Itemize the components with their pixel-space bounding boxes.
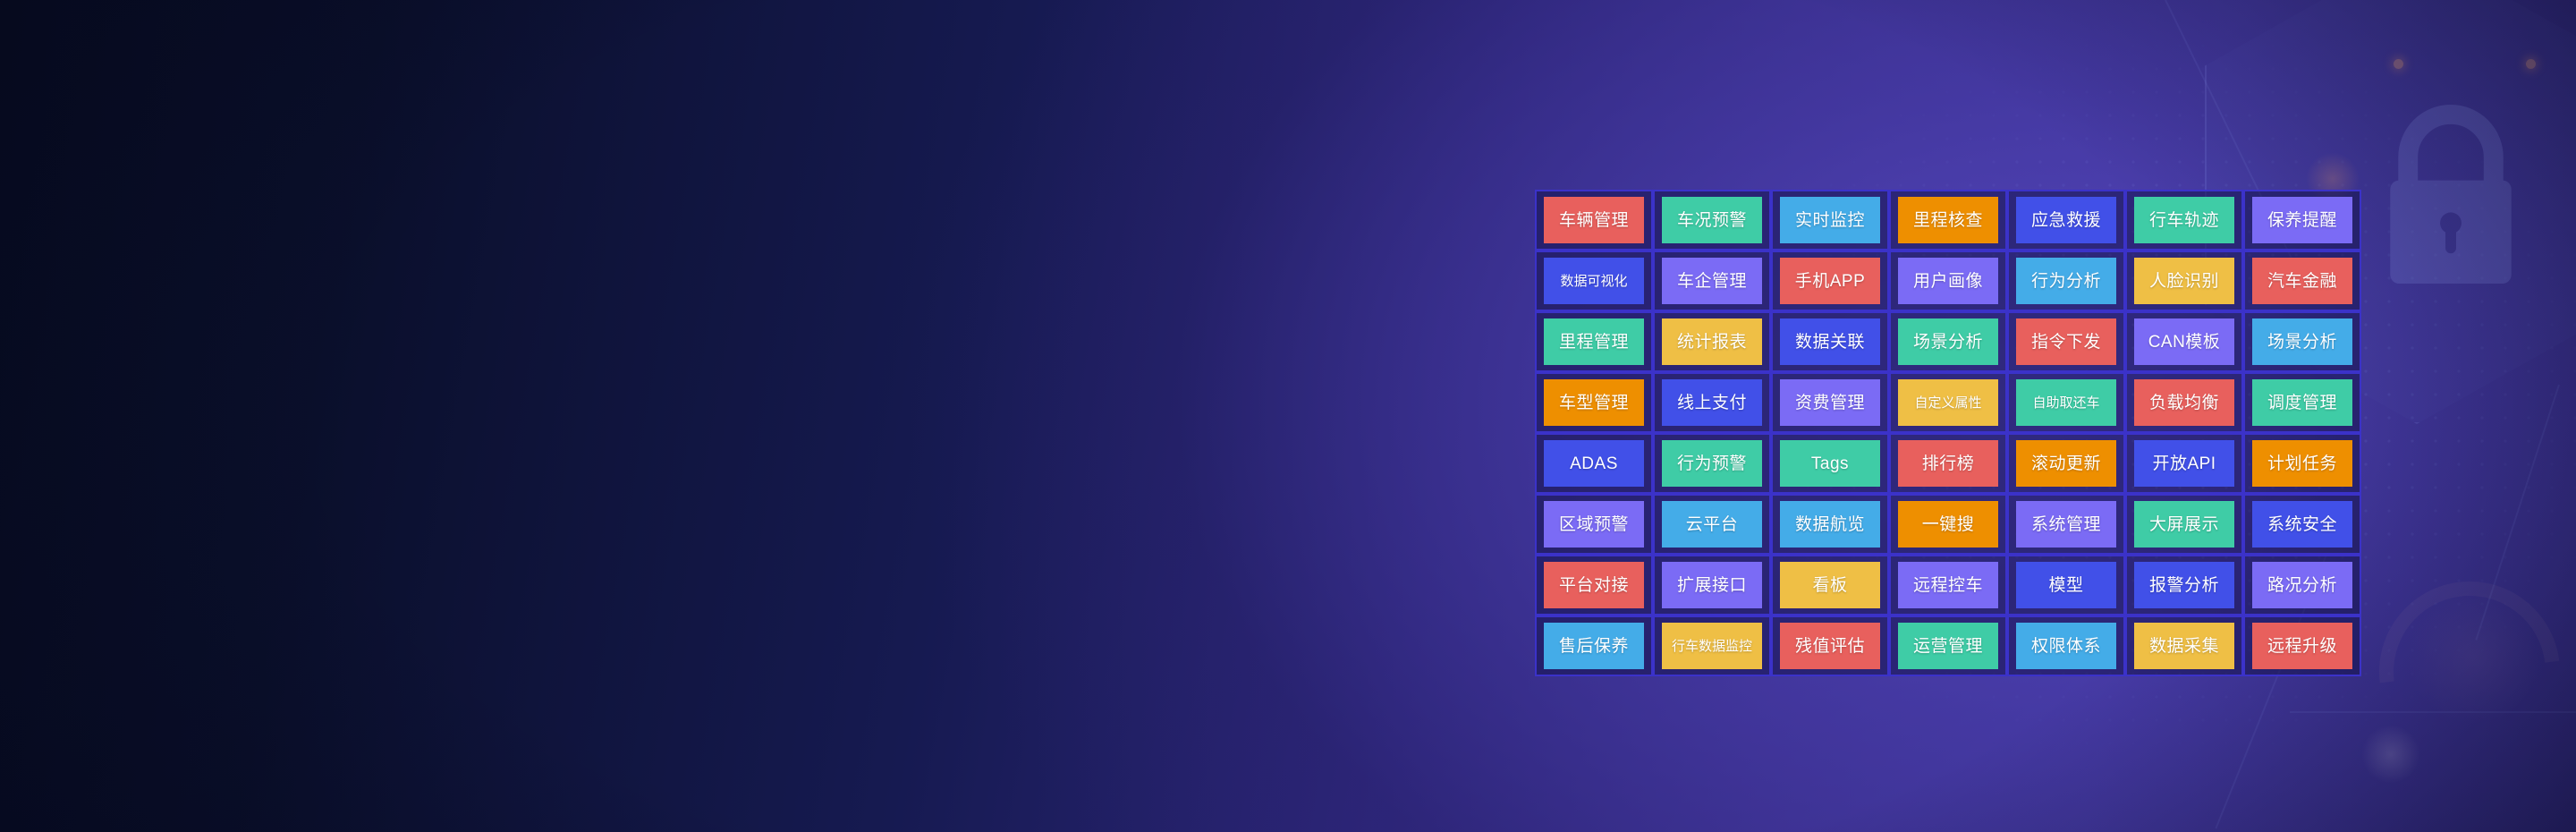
feature-tile-label: 里程核查 [1898,197,1998,243]
feature-tile-label: 数据可视化 [1544,258,1644,304]
feature-tile-cell[interactable]: 系统安全 [2243,494,2361,555]
feature-tile-cell[interactable]: 残值评估 [1771,616,1889,676]
feature-tile-cell[interactable]: 权限体系 [2007,616,2125,676]
feature-tile-label: 开放API [2134,440,2234,487]
feature-tile-cell[interactable]: 自定义属性 [1889,372,2007,433]
feature-tile-cell[interactable]: 应急救援 [2007,190,2125,250]
feature-tile-cell[interactable]: 运营管理 [1889,616,2007,676]
feature-tile-cell[interactable]: 售后保养 [1535,616,1653,676]
feature-tile-cell[interactable]: 系统管理 [2007,494,2125,555]
feature-tile-label: 看板 [1780,562,1880,608]
feature-tile-label: 人脸识别 [2134,258,2234,304]
crescent-arc-decoration [2343,545,2576,799]
feature-tile-label: 指令下发 [2016,318,2116,365]
feature-tile-cell[interactable]: 线上支付 [1653,372,1771,433]
feature-tile-cell[interactable]: 数据关联 [1771,311,1889,372]
feature-tile-cell[interactable]: 行车轨迹 [2125,190,2243,250]
feature-tile-label: 滚动更新 [2016,440,2116,487]
feature-tile-label: 一键搜 [1898,501,1998,548]
feature-tile-cell[interactable]: 一键搜 [1889,494,2007,555]
feature-tile-cell[interactable]: 自助取还车 [2007,372,2125,433]
feature-tile-label: 系统管理 [2016,501,2116,548]
feature-tile-cell[interactable]: ADAS [1535,433,1653,494]
feature-tile-cell[interactable]: 人脸识别 [2125,250,2243,311]
feature-tile-label: 报警分析 [2134,562,2234,608]
feature-tile-label: 区域预警 [1544,501,1644,548]
hexagon-node-dot-right [2526,59,2536,69]
feature-tile-label: 行车数据监控 [1662,623,1762,669]
feature-tile-cell[interactable]: 行为预警 [1653,433,1771,494]
feature-tile-cell[interactable]: 开放API [2125,433,2243,494]
feature-tile-cell[interactable]: 调度管理 [2243,372,2361,433]
decorative-line-4 [2290,711,2576,713]
feature-tile-cell[interactable]: 数据可视化 [1535,250,1653,311]
feature-tile-cell[interactable]: 实时监控 [1771,190,1889,250]
bokeh-orb-pale [2361,725,2420,784]
feature-tile-cell[interactable]: 计划任务 [2243,433,2361,494]
feature-tile-label: ADAS [1544,440,1644,487]
feature-tile-label: 车企管理 [1662,258,1762,304]
feature-tile-label: 自助取还车 [2016,379,2116,426]
feature-tile-label: 计划任务 [2252,440,2352,487]
feature-tile-label: 云平台 [1662,501,1762,548]
feature-tile-label: 用户画像 [1898,258,1998,304]
feature-tile-cell[interactable]: 车企管理 [1653,250,1771,311]
feature-tile-label: 残值评估 [1780,623,1880,669]
feature-tile-cell[interactable]: 远程升级 [2243,616,2361,676]
feature-tile-label: 线上支付 [1662,379,1762,426]
feature-tile-cell[interactable]: 数据采集 [2125,616,2243,676]
feature-tile-label: 数据关联 [1780,318,1880,365]
feature-tile-cell[interactable]: 车况预警 [1653,190,1771,250]
feature-tile-label: 数据采集 [2134,623,2234,669]
feature-tile-label: 售后保养 [1544,623,1644,669]
feature-tile-cell[interactable]: CAN模板 [2125,311,2243,372]
feature-tile-cell[interactable]: 里程管理 [1535,311,1653,372]
feature-tile-label: 车辆管理 [1544,197,1644,243]
feature-tile-cell[interactable]: 用户画像 [1889,250,2007,311]
feature-tile-label: 车型管理 [1544,379,1644,426]
feature-tile-cell[interactable]: 资费管理 [1771,372,1889,433]
feature-tile-cell[interactable]: 车辆管理 [1535,190,1653,250]
feature-tile-cell[interactable]: 统计报表 [1653,311,1771,372]
feature-tile-label: 汽车金融 [2252,258,2352,304]
feature-tile-label: 应急救援 [2016,197,2116,243]
feature-tile-label: 资费管理 [1780,379,1880,426]
presentation-slide: 车辆管理车况预警实时监控里程核查应急救援行车轨迹保养提醒数据可视化车企管理手机A… [0,0,2576,832]
bokeh-orb-large [2406,590,2540,725]
feature-tile-label: 远程升级 [2252,623,2352,669]
feature-tile-label: 路况分析 [2252,562,2352,608]
feature-tile-cell[interactable]: 行为分析 [2007,250,2125,311]
feature-tile-label: 大屏展示 [2134,501,2234,548]
feature-tile-cell[interactable]: 手机APP [1771,250,1889,311]
feature-tile-label: 排行榜 [1898,440,1998,487]
feature-tile-cell[interactable]: 滚动更新 [2007,433,2125,494]
feature-tile-label: 模型 [2016,562,2116,608]
feature-tile-cell[interactable]: 路况分析 [2243,555,2361,616]
feature-tile-label: 数据航览 [1780,501,1880,548]
feature-tile-cell[interactable]: 远程控车 [1889,555,2007,616]
feature-tile-cell[interactable]: 汽车金融 [2243,250,2361,311]
feature-tile-label: 自定义属性 [1898,379,1998,426]
feature-tile-label: 行为分析 [2016,258,2116,304]
padlock-icon [2361,98,2540,291]
feature-tile-cell[interactable]: 负载均衡 [2125,372,2243,433]
feature-tile-label: 统计报表 [1662,318,1762,365]
feature-tile-cell[interactable]: 场景分析 [2243,311,2361,372]
feature-tile-cell[interactable]: 区域预警 [1535,494,1653,555]
feature-tile-cell[interactable]: 平台对接 [1535,555,1653,616]
feature-tile-cell[interactable]: 车型管理 [1535,372,1653,433]
feature-tile-label: 行车轨迹 [2134,197,2234,243]
hexagon-node-dot-left [2394,59,2403,69]
feature-tile-cell[interactable]: 行车数据监控 [1653,616,1771,676]
decorative-line-3 [2475,385,2559,641]
feature-tile-label: 实时监控 [1780,197,1880,243]
feature-tile-cell[interactable]: 云平台 [1653,494,1771,555]
feature-tile-cell[interactable]: Tags [1771,433,1889,494]
feature-tile-label: 保养提醒 [2252,197,2352,243]
feature-tile-cell[interactable]: 场景分析 [1889,311,2007,372]
feature-tile-label: 场景分析 [1898,318,1998,365]
feature-tile-label: 远程控车 [1898,562,1998,608]
feature-tile-cell[interactable]: 里程核查 [1889,190,2007,250]
feature-tile-label: 调度管理 [2252,379,2352,426]
feature-tile-label: 车况预警 [1662,197,1762,243]
feature-tile-grid: 车辆管理车况预警实时监控里程核查应急救援行车轨迹保养提醒数据可视化车企管理手机A… [1535,190,2361,676]
feature-tile-label: 行为预警 [1662,440,1762,487]
feature-tile-label: 里程管理 [1544,318,1644,365]
feature-tile-cell[interactable]: 模型 [2007,555,2125,616]
feature-tile-label: CAN模板 [2134,318,2234,365]
feature-tile-label: Tags [1780,440,1880,487]
feature-tile-cell[interactable]: 指令下发 [2007,311,2125,372]
feature-tile-cell[interactable]: 保养提醒 [2243,190,2361,250]
feature-tile-label: 系统安全 [2252,501,2352,548]
feature-tile-cell[interactable]: 排行榜 [1889,433,2007,494]
feature-tile-cell[interactable]: 扩展接口 [1653,555,1771,616]
feature-tile-cell[interactable]: 数据航览 [1771,494,1889,555]
feature-tile-label: 手机APP [1780,258,1880,304]
feature-tile-label: 负载均衡 [2134,379,2234,426]
feature-tile-cell[interactable]: 报警分析 [2125,555,2243,616]
feature-tile-label: 扩展接口 [1662,562,1762,608]
feature-tile-cell[interactable]: 大屏展示 [2125,494,2243,555]
feature-tile-label: 权限体系 [2016,623,2116,669]
feature-tile-label: 场景分析 [2252,318,2352,365]
feature-tile-cell[interactable]: 看板 [1771,555,1889,616]
feature-tile-label: 平台对接 [1544,562,1644,608]
feature-tile-label: 运营管理 [1898,623,1998,669]
